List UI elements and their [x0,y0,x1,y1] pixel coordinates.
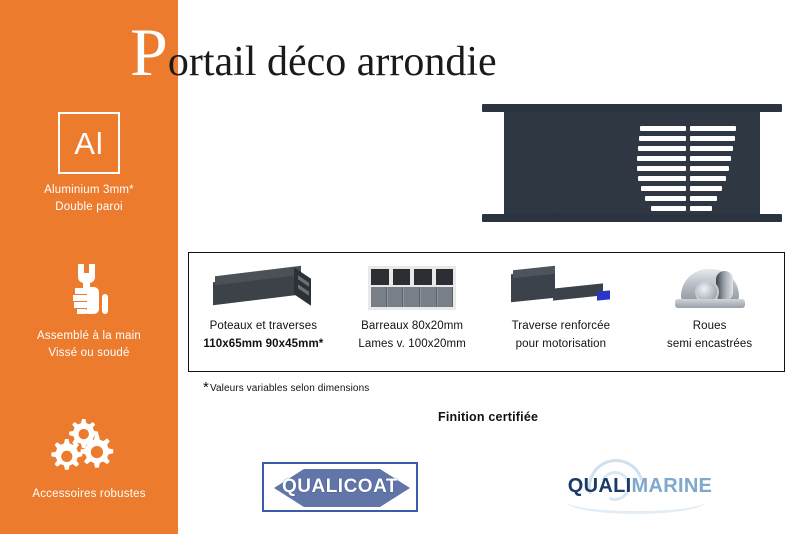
sidebar-feature-assembly-line1: Assemblé à la main [0,328,178,345]
feature-cell-barreaux-line1: Barreaux 80x20mm [361,317,463,335]
sidebar-feature-aluminium: Al Aluminium 3mm* Double paroi [0,104,178,216]
wheel-bearing-icon [635,259,784,317]
sidebar-feature-accessories: Accessoires robustes [0,408,178,503]
al-symbol-text: Al [74,128,104,159]
hand-wrench-icon [0,250,178,328]
gate-bottom-rail [482,214,782,222]
aluminium-al-square-icon: Al [0,104,178,182]
sidebar-feature-accessories-line1: Accessoires robustes [0,486,178,503]
gate-body [504,112,760,214]
feature-cell-poteaux-line2: 110x65mm 90x45mm* [203,335,323,353]
feature-cell-poteaux: Poteaux et traverses 110x65mm 90x45mm* [189,253,338,371]
sidebar-feature-aluminium-line1: Aluminium 3mm* [0,182,178,199]
reinforced-beam-icon [487,259,636,317]
feature-cell-barreaux-line2: Lames v. 100x20mm [358,335,466,353]
feature-cell-poteaux-line1: Poteaux et traverses [210,317,317,335]
qualimarine-logo: QUALIMARINE [560,465,720,511]
footnote-asterisk: * [203,379,209,396]
qualicoat-logo: QUALICOAT [262,462,418,512]
sidebar-feature-assembly-line2: Vissé ou soudé [0,345,178,362]
qualimarine-logo-text: QUALIMARINE [560,475,720,498]
page-title: Portail déco arrondie [130,18,497,86]
feature-box: Poteaux et traverses 110x65mm 90x45mm* B… [188,252,785,372]
feature-cell-barreaux: Barreaux 80x20mm Lames v. 100x20mm [338,253,487,371]
page-title-dropcap: P [130,14,168,90]
footnote-text: Valeurs variables selon dimensions [210,383,369,394]
feature-cell-roues-line2: semi encastrées [667,335,752,353]
footnote: *Valeurs variables selon dimensions [203,379,369,396]
feature-cell-roues-line1: Roues [693,317,727,335]
feature-cell-traverse: Traverse renforcée pour motorisation [487,253,636,371]
qualimarine-text-marine: MARINE [632,475,713,497]
gate-slat-group [624,124,742,220]
gate-top-rail [482,104,782,112]
feature-cell-traverse-line1: Traverse renforcée [512,317,611,335]
qualimarine-text-quali: QUALI [568,475,632,497]
feature-cell-roues: Roues semi encastrées [635,253,784,371]
page-title-rest: ortail déco arrondie [168,39,497,85]
sidebar-feature-aluminium-line2: Double paroi [0,199,178,216]
qualicoat-logo-text: QUALICOAT [282,476,398,498]
bars-slats-icon [338,259,487,317]
feature-cell-traverse-line2: pour motorisation [516,335,607,353]
al-square-border: Al [58,112,120,174]
post-profile-icon [189,259,338,317]
certification-heading: Finition certifiée [438,410,538,424]
gears-icon [0,408,178,486]
gate-illustration [482,104,782,222]
sidebar-feature-assembly: Assemblé à la main Vissé ou soudé [0,250,178,362]
